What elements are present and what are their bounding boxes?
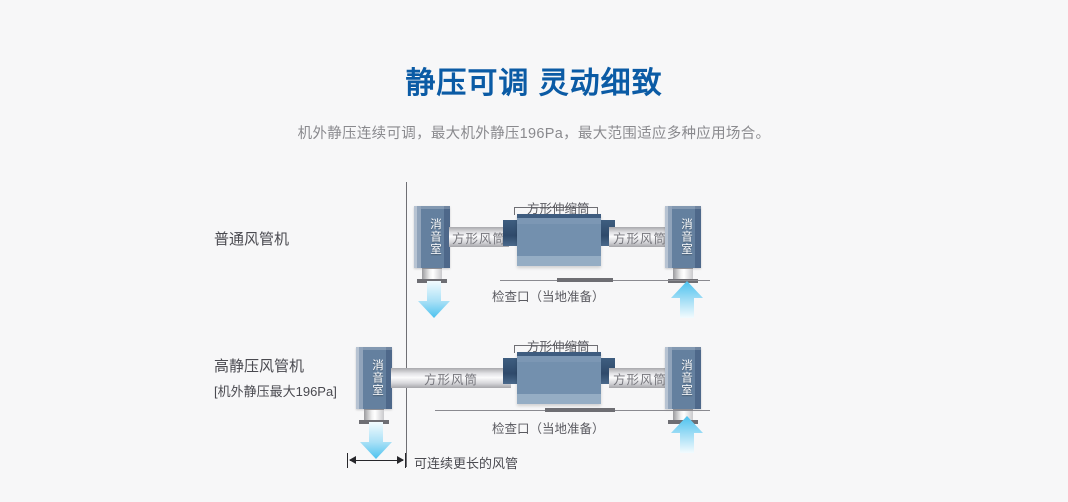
duct-left-high-static: 方形风筒 — [391, 368, 511, 388]
inspection-port-high-static — [545, 408, 615, 412]
expansion-cuff-left — [503, 220, 517, 246]
silencer-right-high-static-label: 消音室 — [665, 347, 701, 409]
up-arrow-icon-high-static — [670, 416, 704, 454]
row-label-standard-text: 普通风管机 — [214, 231, 289, 248]
duct-left-standard: 方形风筒 — [449, 227, 509, 247]
duct-right-high-static-label: 方形风筒 — [613, 369, 667, 388]
duct-left-high-static-label: 方形风筒 — [424, 369, 478, 388]
expansion-box-standard — [503, 214, 615, 266]
dimension-caption: 可连续更长的风管 — [414, 453, 518, 472]
dimension-tick-left — [347, 453, 348, 468]
expansion-box-body — [517, 352, 601, 404]
silencer-right-standard-label: 消音室 — [665, 206, 701, 268]
dimension-tick-right — [405, 453, 406, 468]
reference-vertical-line — [406, 182, 407, 467]
inspection-caption-standard: 检查口（当地准备） — [492, 286, 605, 305]
silencer-right-standard: 消音室 — [665, 206, 701, 268]
duct-comparison-diagram: 普通风管机 消音室 方形风筒 方形伸缩筒 方形风筒 消音室 检查口（当地准备） — [0, 0, 1068, 502]
expansion-box-high-static — [503, 352, 615, 404]
expansion-cuff-left — [503, 358, 517, 384]
up-arrow-icon-standard — [670, 281, 704, 319]
duct-right-standard: 方形风筒 — [609, 227, 671, 247]
dimension-bar — [350, 460, 403, 461]
inspection-port-standard — [557, 278, 613, 282]
down-arrow-icon-standard — [417, 281, 451, 319]
silencer-left-standard: 消音室 — [414, 206, 450, 268]
silencer-right-high-static: 消音室 — [665, 347, 701, 409]
row-label-high-static-text: 高静压风管机 — [214, 358, 304, 375]
row-sublabel-high-static: [机外静压最大196Pa] — [214, 381, 337, 400]
silencer-left-high-static-label: 消音室 — [356, 347, 392, 409]
dimension-arrow — [347, 453, 407, 468]
dimension-head-right — [397, 456, 404, 464]
expansion-box-body — [517, 214, 601, 266]
row-label-standard: 普通风管机 — [214, 228, 289, 249]
dimension-head-left — [349, 456, 356, 464]
duct-right-high-static: 方形风筒 — [609, 368, 671, 388]
duct-right-standard-label: 方形风筒 — [613, 228, 667, 247]
row-label-high-static: 高静压风管机 [机外静压最大196Pa] — [214, 355, 337, 400]
silencer-left-standard-label: 消音室 — [414, 206, 450, 268]
duct-left-standard-label: 方形风筒 — [452, 228, 506, 247]
inspection-caption-high-static: 检查口（当地准备） — [492, 418, 605, 437]
silencer-left-high-static: 消音室 — [356, 347, 392, 409]
